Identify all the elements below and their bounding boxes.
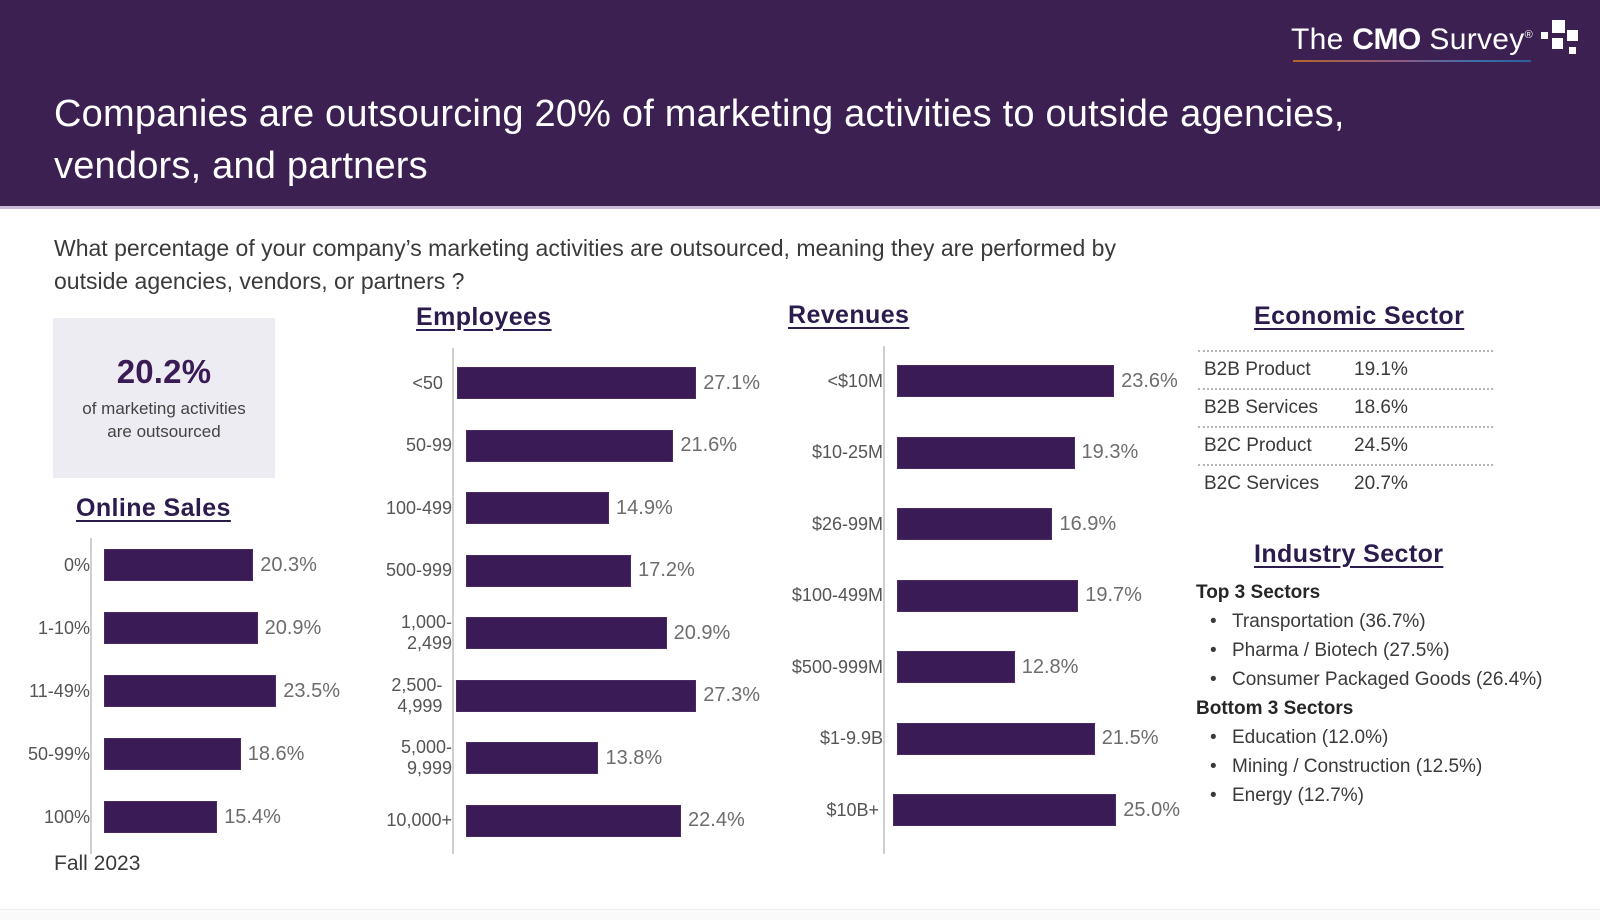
bar bbox=[897, 365, 1114, 397]
bottom-strip bbox=[0, 909, 1600, 920]
employees-heading: Employees bbox=[416, 303, 552, 332]
bar-category-label: 10,000+ bbox=[340, 810, 466, 831]
economic-sector-name: B2C Services bbox=[1204, 473, 1354, 495]
bar bbox=[466, 617, 667, 649]
bar-row: <$10M23.6% bbox=[750, 364, 1180, 398]
bar-value-label: 16.9% bbox=[1052, 513, 1116, 536]
list-item-label: Pharma / Biotech (27.5%) bbox=[1232, 640, 1450, 661]
overall-stat-caption: of marketing activities are outsourced bbox=[82, 397, 245, 443]
bottom-sectors-title: Bottom 3 Sectors bbox=[1196, 698, 1596, 720]
economic-sector-table: B2B Product19.1%B2B Services18.6%B2C Pro… bbox=[1198, 350, 1493, 502]
list-item-label: Mining / Construction (12.5%) bbox=[1232, 756, 1482, 777]
list-item: •Consumer Packaged Goods (26.4%) bbox=[1196, 665, 1596, 694]
bar bbox=[104, 612, 258, 644]
bar-value-label: 21.5% bbox=[1095, 727, 1159, 750]
bar-category-label: $10B+ bbox=[750, 800, 893, 821]
top-sectors-title: Top 3 Sectors bbox=[1196, 582, 1596, 604]
revenues-chart: <$10M23.6%$10-25M19.3%$26-99M16.9%$100-4… bbox=[750, 346, 1180, 854]
overall-stat-caption-line2: are outsourced bbox=[82, 420, 245, 443]
bar-row: $500-999M12.8% bbox=[750, 650, 1180, 684]
list-item-label: Energy (12.7%) bbox=[1232, 785, 1364, 806]
economic-sector-value: 20.7% bbox=[1354, 473, 1408, 495]
bar-row: $100-499M19.7% bbox=[750, 579, 1180, 613]
list-item: •Transportation (36.7%) bbox=[1196, 607, 1596, 636]
bar-row: $10B+25.0% bbox=[750, 793, 1180, 827]
bar-value-label: 19.3% bbox=[1075, 441, 1139, 464]
list-item: •Energy (12.7%) bbox=[1196, 781, 1596, 810]
bar-category-label: 11-49% bbox=[0, 681, 104, 702]
bar bbox=[104, 738, 241, 770]
bar-row: 1,000-2,49920.9% bbox=[340, 616, 760, 650]
bar bbox=[104, 801, 217, 833]
bullet-icon: • bbox=[1210, 723, 1217, 752]
revenues-heading: Revenues bbox=[788, 301, 909, 330]
logo-wordmark: The CMO Survey® bbox=[1291, 18, 1533, 57]
bar-value-label: 20.9% bbox=[258, 617, 322, 640]
economic-sector-name: B2B Services bbox=[1204, 397, 1354, 419]
bar-value-label: 20.3% bbox=[253, 554, 317, 577]
bar-value-label: 25.0% bbox=[1116, 799, 1180, 822]
bar-value-label: 18.6% bbox=[241, 743, 305, 766]
bar-row: 100%15.4% bbox=[0, 800, 340, 834]
cmo-survey-logo: The CMO Survey® bbox=[1291, 18, 1578, 64]
list-item: •Education (12.0%) bbox=[1196, 723, 1596, 752]
bar-value-label: 22.4% bbox=[681, 809, 745, 832]
bar-row: 1-10%20.9% bbox=[0, 611, 340, 645]
overall-stat-caption-line1: of marketing activities bbox=[82, 397, 245, 420]
economic-sector-name: B2C Product bbox=[1204, 435, 1354, 457]
bar bbox=[466, 555, 631, 587]
bar bbox=[456, 680, 696, 712]
bar bbox=[897, 437, 1075, 469]
list-item-label: Education (12.0%) bbox=[1232, 727, 1388, 748]
bullet-icon: • bbox=[1210, 636, 1217, 665]
bullet-icon: • bbox=[1210, 607, 1217, 636]
bar-value-label: 21.6% bbox=[673, 434, 737, 457]
online-sales-chart: 0%20.3%1-10%20.9%11-49%23.5%50-99%18.6%1… bbox=[0, 538, 340, 854]
bar-row: $1-9.9B21.5% bbox=[750, 722, 1180, 756]
logo-underline-accent bbox=[1293, 60, 1531, 62]
logo-cmo: CMO bbox=[1352, 23, 1421, 56]
bar-category-label: 50-99% bbox=[0, 744, 104, 765]
bar-value-label: 15.4% bbox=[217, 806, 281, 829]
industry-sector-block: Top 3 Sectors•Transportation (36.7%)•Pha… bbox=[1196, 578, 1596, 810]
bar-row: 100-49914.9% bbox=[340, 491, 760, 525]
survey-question: What percentage of your company’s market… bbox=[54, 232, 1144, 298]
page-title: Companies are outsourcing 20% of marketi… bbox=[54, 88, 1394, 192]
bar-value-label: 17.2% bbox=[631, 559, 695, 582]
overall-stat-value: 20.2% bbox=[117, 353, 212, 391]
header-divider bbox=[0, 206, 1600, 209]
economic-sector-row: B2B Product19.1% bbox=[1198, 350, 1493, 388]
bar-row: 500-99917.2% bbox=[340, 554, 760, 588]
bar bbox=[893, 794, 1116, 826]
list-item-label: Consumer Packaged Goods (26.4%) bbox=[1232, 669, 1543, 690]
online-sales-heading: Online Sales bbox=[76, 494, 231, 523]
logo-dots-icon bbox=[1538, 20, 1578, 60]
bar-value-label: 19.7% bbox=[1078, 584, 1142, 607]
bar-value-label: 20.9% bbox=[667, 622, 731, 645]
bar-category-label: <$10M bbox=[750, 371, 897, 392]
bar-category-label: <50 bbox=[340, 373, 457, 394]
survey-wave-label: Fall 2023 bbox=[54, 852, 140, 876]
bar-row: 2,500-4,99927.3% bbox=[340, 679, 760, 713]
economic-sector-value: 19.1% bbox=[1354, 359, 1408, 381]
bar-category-label: 500-999 bbox=[340, 560, 466, 581]
bar bbox=[897, 651, 1015, 683]
bullet-icon: • bbox=[1210, 752, 1217, 781]
bar-category-label: 0% bbox=[0, 555, 104, 576]
bar bbox=[466, 805, 681, 837]
economic-sector-row: B2C Product24.5% bbox=[1198, 426, 1493, 464]
bar bbox=[104, 675, 276, 707]
bar-value-label: 13.8% bbox=[598, 747, 662, 770]
bar-value-label: 12.8% bbox=[1015, 656, 1079, 679]
list-item-label: Transportation (36.7%) bbox=[1232, 611, 1426, 632]
bar-row: 10,000+22.4% bbox=[340, 804, 760, 838]
bar bbox=[104, 549, 253, 581]
bar bbox=[457, 367, 696, 399]
bar-category-label: $100-499M bbox=[750, 585, 897, 606]
bar-category-label: 1-10% bbox=[0, 618, 104, 639]
bar bbox=[897, 580, 1078, 612]
bar-category-label: 5,000-9,999 bbox=[340, 737, 466, 779]
bar-row: 0%20.3% bbox=[0, 548, 340, 582]
bar-category-label: 100% bbox=[0, 807, 104, 828]
bar-value-label: 23.6% bbox=[1114, 370, 1178, 393]
bar bbox=[897, 723, 1095, 755]
bar bbox=[466, 430, 673, 462]
list-item: •Pharma / Biotech (27.5%) bbox=[1196, 636, 1596, 665]
bullet-icon: • bbox=[1210, 665, 1217, 694]
industry-sector-heading: Industry Sector bbox=[1254, 540, 1443, 569]
bar-category-label: $10-25M bbox=[750, 442, 897, 463]
economic-sector-row: B2B Services18.6% bbox=[1198, 388, 1493, 426]
bar-category-label: 1,000-2,499 bbox=[340, 612, 466, 654]
bar-row: 11-49%23.5% bbox=[0, 674, 340, 708]
overall-stat-card: 20.2% of marketing activities are outsou… bbox=[53, 318, 275, 478]
bar-category-label: $500-999M bbox=[750, 657, 897, 678]
logo-prefix: The bbox=[1291, 23, 1352, 56]
bar-value-label: 23.5% bbox=[276, 680, 340, 703]
registered-mark-icon: ® bbox=[1525, 29, 1533, 41]
economic-sector-heading: Economic Sector bbox=[1254, 302, 1464, 331]
bar-category-label: $26-99M bbox=[750, 514, 897, 535]
bar-row: 50-99%18.6% bbox=[0, 737, 340, 771]
bar bbox=[897, 508, 1052, 540]
logo-survey: Survey bbox=[1421, 23, 1525, 56]
economic-sector-name: B2B Product bbox=[1204, 359, 1354, 381]
bar-row: $26-99M16.9% bbox=[750, 507, 1180, 541]
bar-category-label: $1-9.9B bbox=[750, 728, 897, 749]
bar bbox=[466, 742, 598, 774]
bar-row: $10-25M19.3% bbox=[750, 436, 1180, 470]
bar-category-label: 100-499 bbox=[340, 498, 466, 519]
bar-row: 5,000-9,99913.8% bbox=[340, 741, 760, 775]
economic-sector-row: B2C Services20.7% bbox=[1198, 464, 1493, 502]
bullet-icon: • bbox=[1210, 781, 1217, 810]
bar-category-label: 50-99 bbox=[340, 435, 466, 456]
bar bbox=[466, 492, 609, 524]
bar-row: <5027.1% bbox=[340, 366, 760, 400]
bar-row: 50-9921.6% bbox=[340, 429, 760, 463]
list-item: •Mining / Construction (12.5%) bbox=[1196, 752, 1596, 781]
bar-value-label: 14.9% bbox=[609, 497, 673, 520]
employees-chart: <5027.1%50-9921.6%100-49914.9%500-99917.… bbox=[340, 348, 760, 854]
bar-category-label: 2,500-4,999 bbox=[340, 675, 456, 717]
economic-sector-value: 24.5% bbox=[1354, 435, 1408, 457]
economic-sector-value: 18.6% bbox=[1354, 397, 1408, 419]
